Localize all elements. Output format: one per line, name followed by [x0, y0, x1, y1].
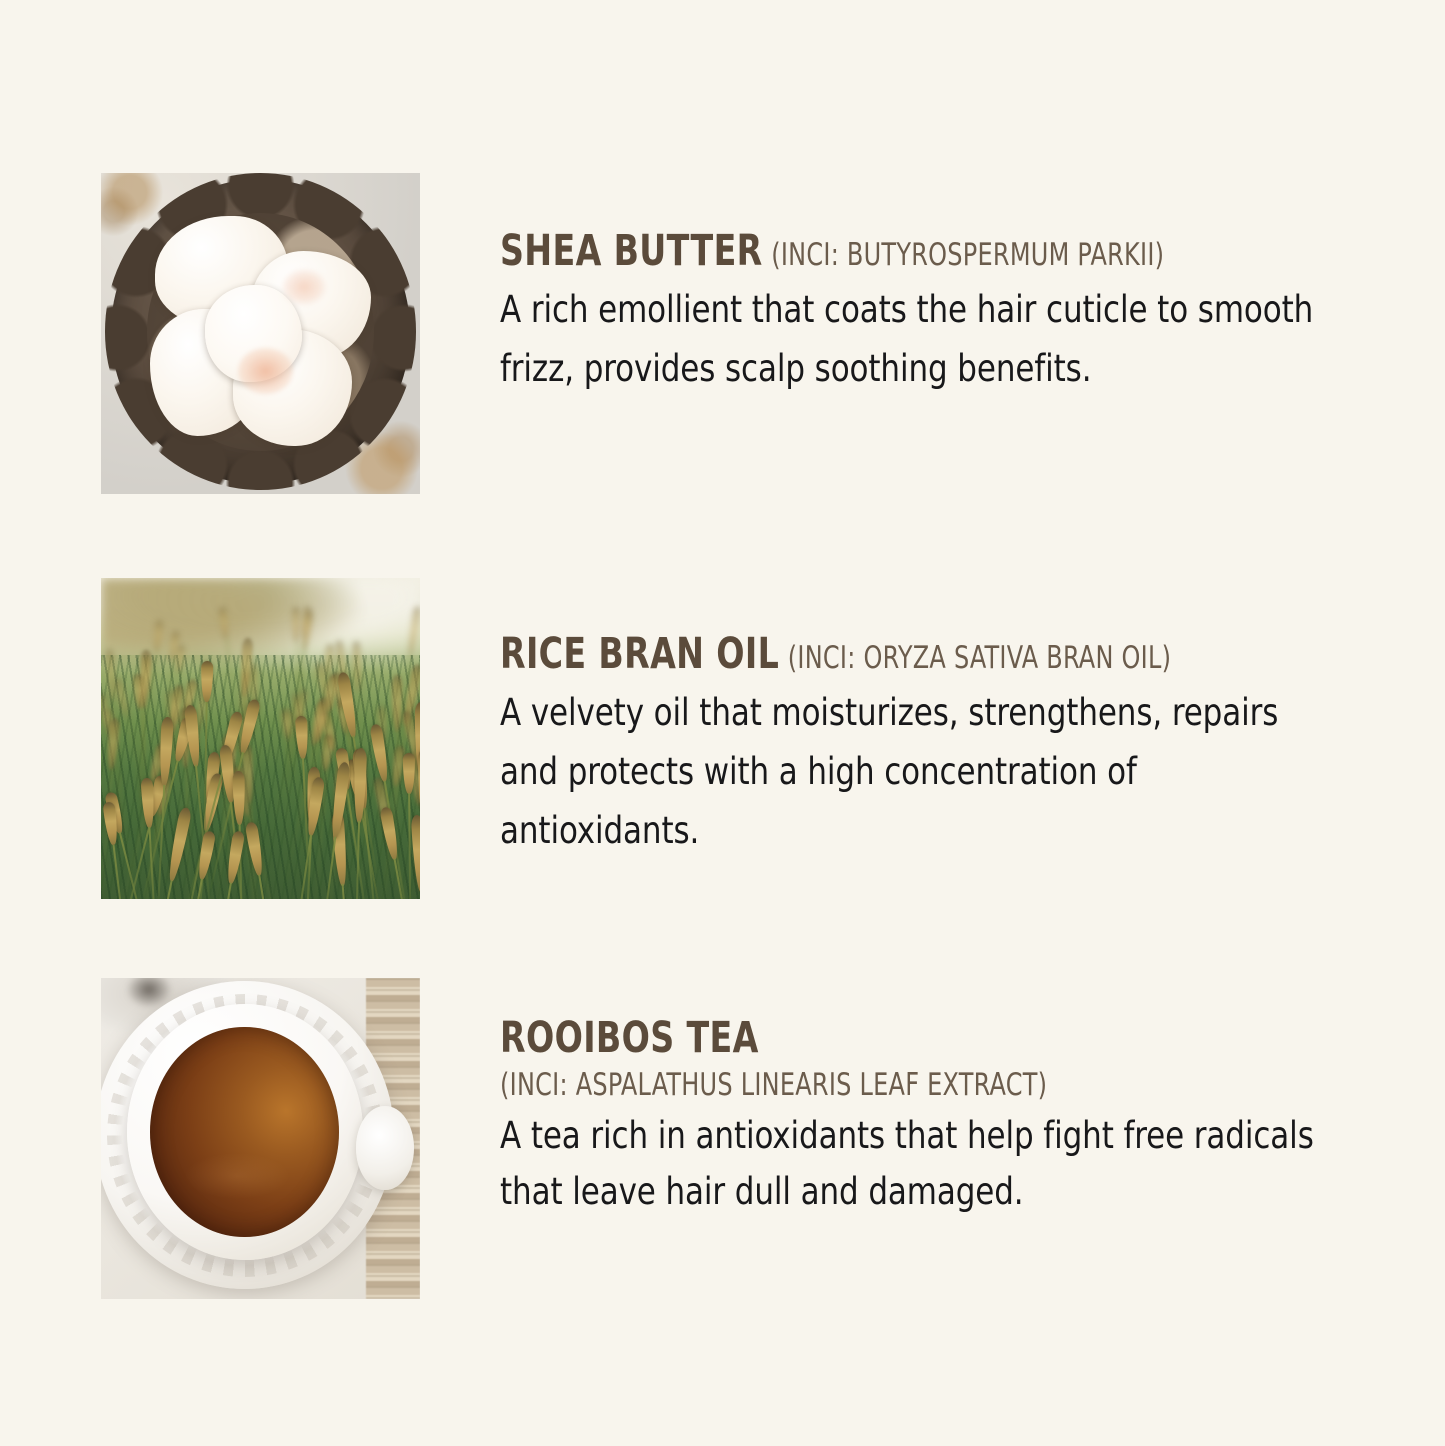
- grain-seed-head: [113, 678, 129, 717]
- grain-seed-head: [352, 641, 361, 693]
- shea-butter-heading: SHEA BUTTER(INCI: BUTYROSPERMUM PARKII): [500, 229, 1278, 274]
- ingredient-benefits-panel: SHEA BUTTER(INCI: BUTYROSPERMUM PARKII) …: [0, 0, 1445, 1446]
- grain-seed-head: [324, 644, 335, 677]
- ingredient-row-shea-butter: SHEA BUTTER(INCI: BUTYROSPERMUM PARKII) …: [0, 173, 1445, 494]
- grain-seed-head: [158, 716, 173, 786]
- butter-warm-highlight: [283, 270, 324, 304]
- rice-bran-oil-description: A velvety oil that moisturizes, strength…: [500, 683, 1318, 861]
- grain-seed-head: [200, 661, 213, 703]
- ingredient-inci: (INCI: BUTYROSPERMUM PARKII): [771, 237, 1164, 273]
- rooibos-tea-image: [101, 978, 420, 1299]
- shea-butter-photo-art: [101, 173, 420, 494]
- butter-warm-highlight: [238, 348, 293, 394]
- ingredient-inci: (INCI: ORYZA SATIVA BRAN OIL): [788, 640, 1171, 676]
- tea-liquid: [150, 1027, 339, 1238]
- grain-seed-heads: [101, 578, 420, 899]
- grain-seed-head: [292, 607, 300, 642]
- grain-seed-head: [411, 815, 420, 893]
- ingredient-name: RICE BRAN OIL: [500, 629, 779, 679]
- grain-seed-head: [406, 606, 420, 656]
- rooibos-tea-description: A tea rich in antioxidants that help fig…: [500, 1108, 1342, 1220]
- shea-butter-image: [101, 173, 420, 494]
- grain-seed-head: [153, 620, 165, 653]
- rice-field-photo-art: [101, 578, 420, 899]
- shea-butter-description: A rich emollient that coats the hair cut…: [500, 280, 1318, 398]
- ingredient-name: ROOIBOS TEA: [500, 1013, 759, 1063]
- shea-butter-copy: SHEA BUTTER(INCI: BUTYROSPERMUM PARKII) …: [420, 173, 1445, 398]
- ingredient-row-rice-bran-oil: RICE BRAN OIL(INCI: ORYZA SATIVA BRAN OI…: [0, 578, 1445, 899]
- rooibos-tea-heading: ROOIBOS TEA: [500, 1016, 1278, 1061]
- grain-seed-head: [402, 753, 414, 794]
- tea-cup-photo-art: [101, 978, 420, 1299]
- grain-seed-head: [370, 723, 391, 782]
- grain-seed-head: [105, 649, 116, 702]
- shea-butter-chunks: [146, 212, 376, 456]
- rice-bran-oil-image: [101, 578, 420, 899]
- ingredient-name: SHEA BUTTER: [500, 226, 763, 276]
- tea-cup: [127, 1004, 363, 1261]
- grain-seed-head: [218, 607, 229, 640]
- rice-bran-oil-heading: RICE BRAN OIL(INCI: ORYZA SATIVA BRAN OI…: [500, 632, 1278, 677]
- rice-bran-oil-copy: RICE BRAN OIL(INCI: ORYZA SATIVA BRAN OI…: [420, 578, 1445, 860]
- tea-cup-handle: [356, 1106, 413, 1189]
- ingredient-row-rooibos-tea: ROOIBOS TEA (INCI: ASPALATHUS LINEARIS L…: [0, 978, 1445, 1299]
- ingredient-inci: (INCI: ASPALATHUS LINEARIS LEAF EXTRACT): [500, 1067, 1278, 1104]
- rooibos-tea-copy: ROOIBOS TEA (INCI: ASPALATHUS LINEARIS L…: [420, 978, 1445, 1220]
